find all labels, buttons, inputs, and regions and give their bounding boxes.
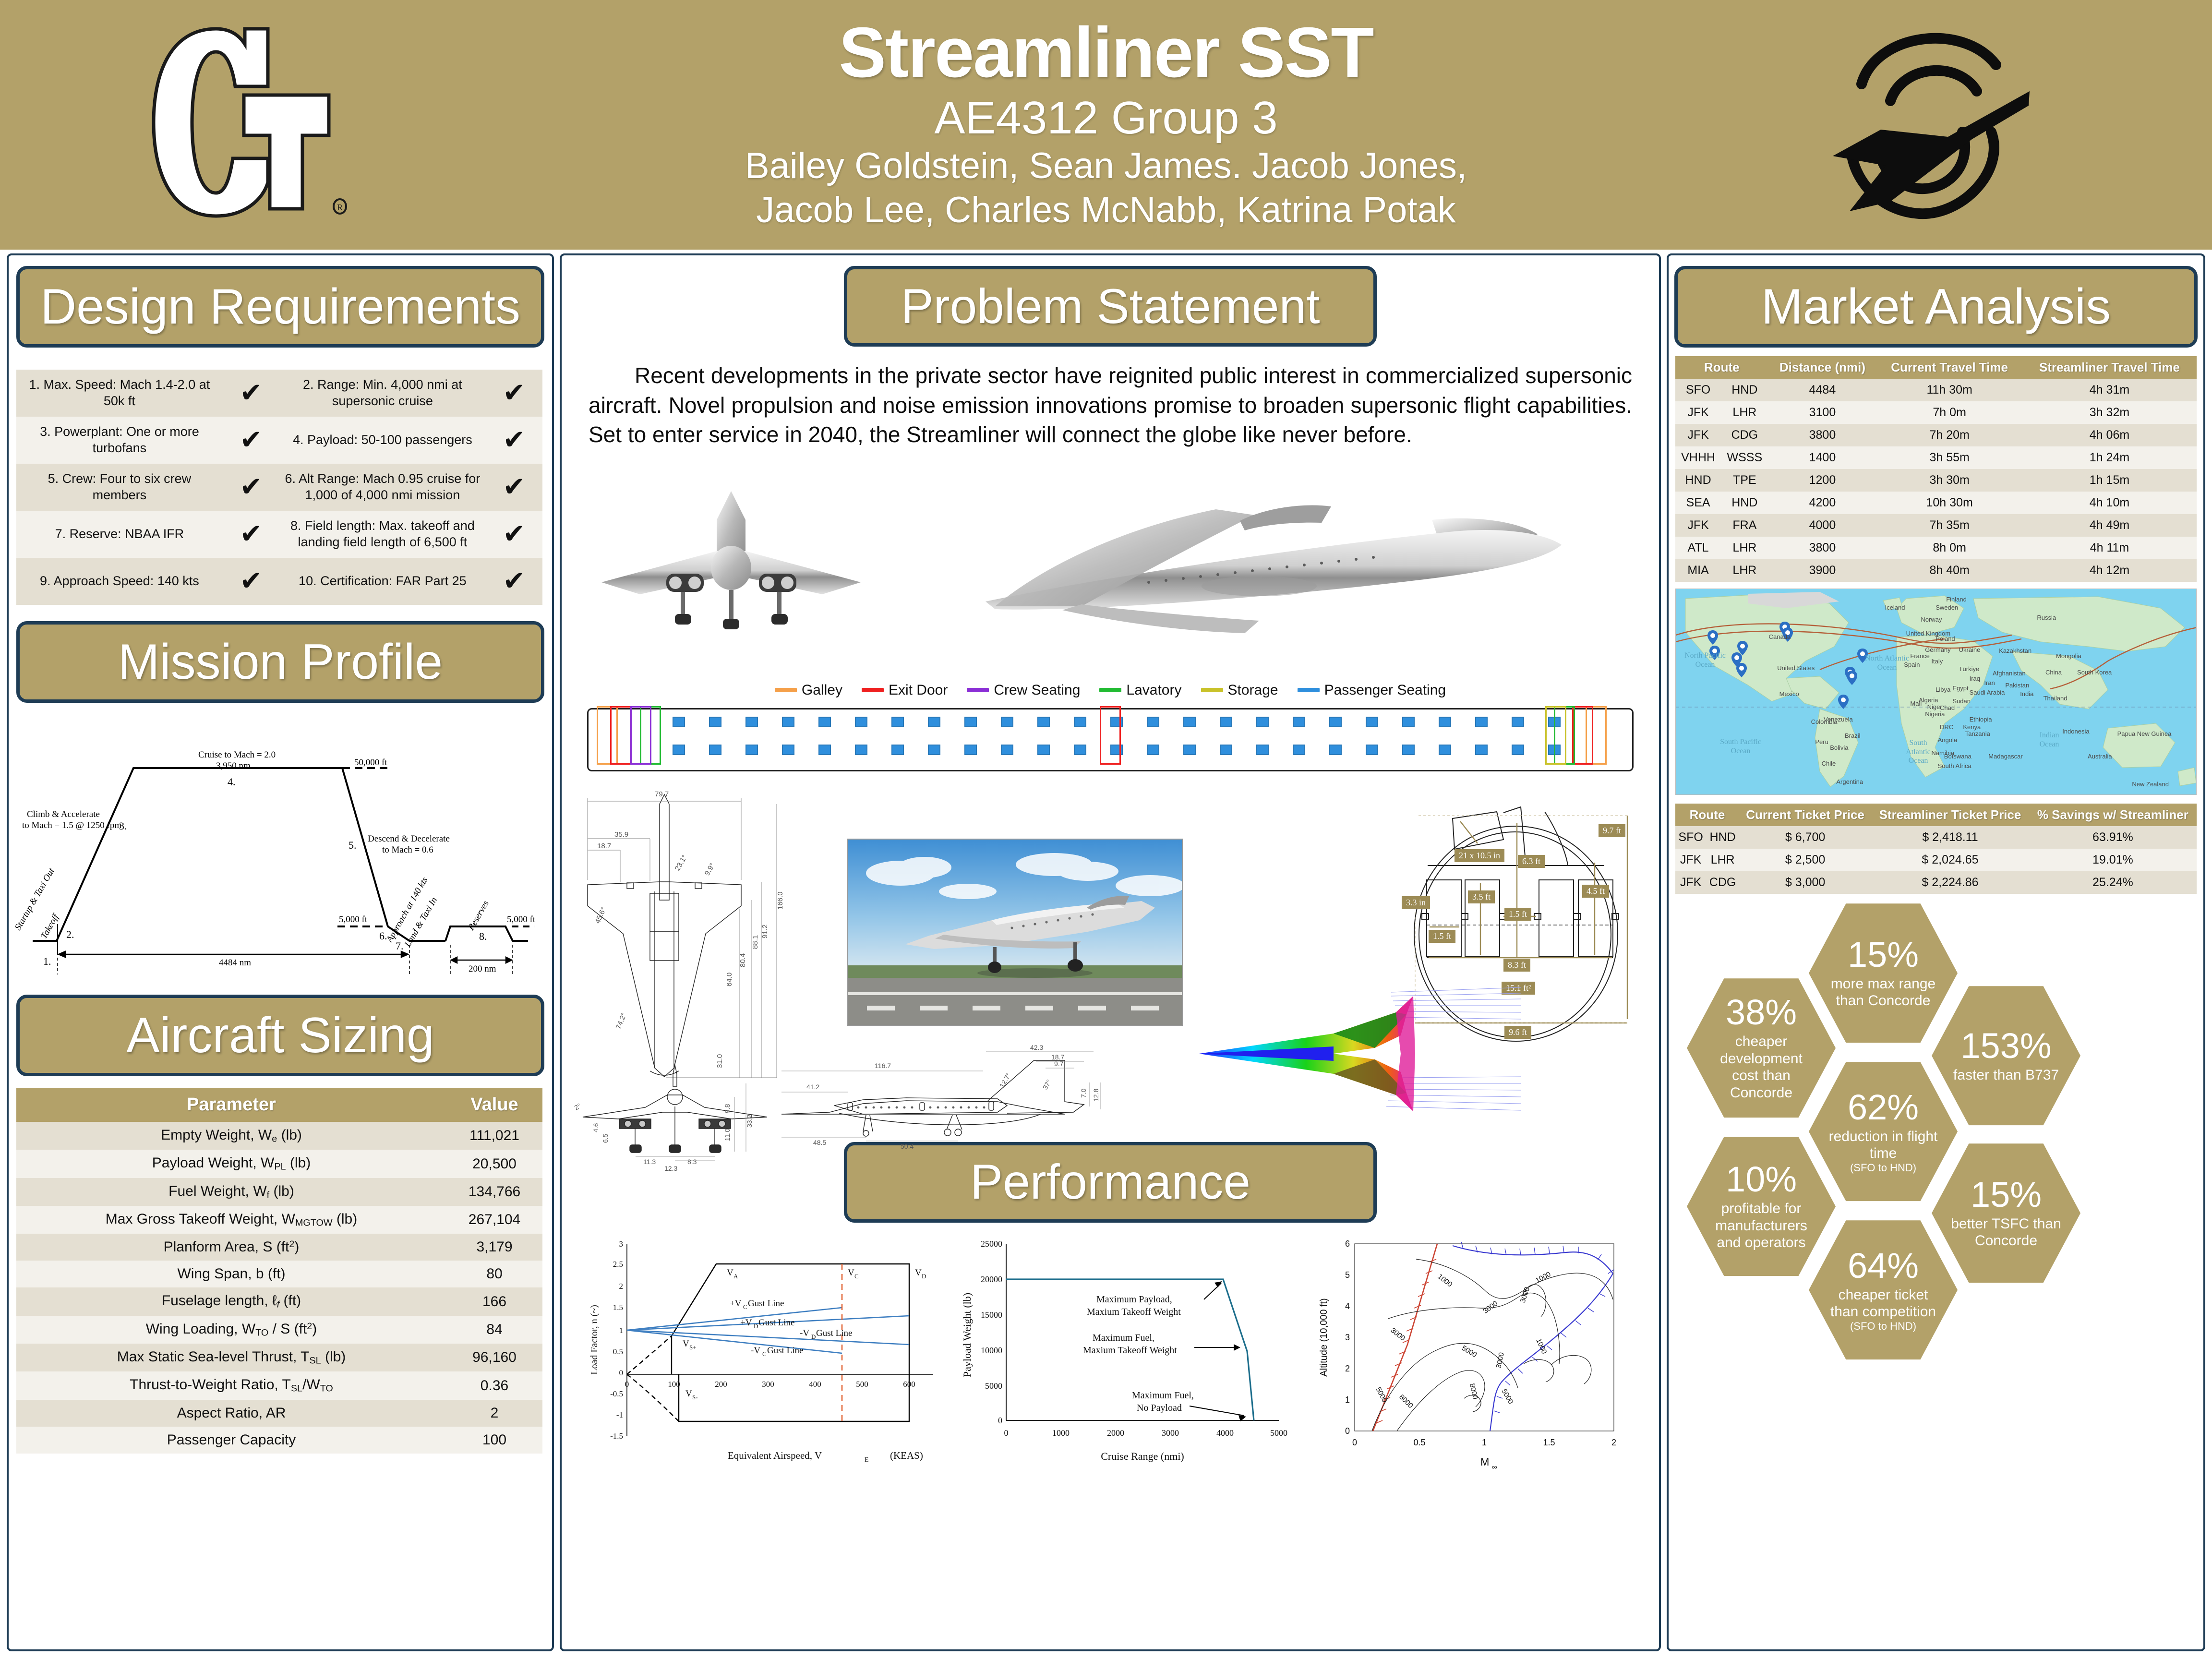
route-from-2: JFK <box>1675 424 1721 446</box>
svg-text:5: 5 <box>1345 1270 1350 1280</box>
section-header-aircraft-sizing: Aircraft Sizing <box>16 995 544 1076</box>
map-country-label: Egypt <box>1952 685 1968 692</box>
map-country-label: France <box>1910 652 1929 660</box>
map-country-label: Russia <box>2037 614 2056 621</box>
svg-text:Maxium Takeoff Weight: Maxium Takeoff Weight <box>1087 1307 1181 1317</box>
cabin-seat <box>1074 717 1086 727</box>
svg-text:0: 0 <box>1352 1438 1357 1447</box>
svg-text:7.0: 7.0 <box>1080 1088 1087 1098</box>
requirement-5-check: ✔ <box>223 464 279 511</box>
svg-text:D: D <box>922 1273 926 1280</box>
hex-development-cost-text: cheaper development cost than Concorde <box>1706 1033 1816 1101</box>
table-row: Payload Weight, WPL (lb)20,500 <box>16 1150 542 1178</box>
svg-text:+V: +V <box>740 1318 752 1328</box>
svg-text:23.1°: 23.1° <box>673 854 689 872</box>
cabin-seat <box>1001 745 1013 755</box>
xs-tag-aisle: 1.5 ft <box>1504 908 1531 921</box>
chart-v-n-diagram: VA VC VD VS+ VS- +VCGust Line +VDGust Li… <box>583 1229 948 1479</box>
svg-text:6.5: 6.5 <box>601 1133 609 1143</box>
price-current-1: $ 2,500 <box>1739 849 1871 871</box>
title-block: Streamliner SST AE4312 Group 3 Bailey Go… <box>530 17 1682 233</box>
requirement-1: 1. Max. Speed: Mach 1.4-2.0 at 50k ft <box>16 370 223 417</box>
svg-text:S+: S+ <box>689 1344 697 1351</box>
map-country-label: Mali <box>1910 700 1922 707</box>
cabin-seat <box>782 717 794 727</box>
cabin-seat <box>1256 745 1269 755</box>
sizing-param-1: Payload Weight, WPL (lb) <box>16 1150 446 1178</box>
table-row: Max Static Sea-level Thrust, TSL (lb)96,… <box>16 1344 542 1371</box>
svg-text:600: 600 <box>903 1380 915 1389</box>
payload-range-svg: Maximum Payload, Maxium Takeoff Weight M… <box>954 1229 1305 1479</box>
route-distance-5: 4200 <box>1768 492 1877 514</box>
svg-text:Load Factor, n (~): Load Factor, n (~) <box>589 1305 600 1375</box>
map-country-label: Pakistan <box>2005 682 2029 689</box>
mission-profile-svg <box>18 715 542 984</box>
route-to-4: TPE <box>1721 469 1768 492</box>
svg-text:(KEAS): (KEAS) <box>890 1450 923 1461</box>
table-row: Thrust-to-Weight Ratio, TSL/WTO0.36 <box>16 1371 542 1399</box>
render-three-quarter-view <box>986 505 1562 633</box>
cabin-seat <box>1074 745 1086 755</box>
svg-text:79.7: 79.7 <box>655 790 669 798</box>
svg-text:41.2: 41.2 <box>806 1083 819 1091</box>
svg-text:0.5: 0.5 <box>613 1347 623 1356</box>
sizing-value-6: 166 <box>446 1287 542 1315</box>
design-requirements-table: 1. Max. Speed: Mach 1.4-2.0 at 50k ft ✔ … <box>16 370 542 605</box>
table-row: SFOHND$ 6,700$ 2,418.1163.91% <box>1675 826 2197 849</box>
route-distance-8: 3900 <box>1768 559 1877 582</box>
route-streamliner-time-4: 1h 15m <box>2022 469 2197 492</box>
map-country-label: Colombia <box>1811 718 1838 725</box>
routes-table-body: SFOHND448411h 30m4h 31mJFKLHR31007h 0m3h… <box>1675 379 2197 582</box>
aircraft-renders <box>573 462 1648 673</box>
cabin-seat <box>1475 717 1488 727</box>
hex-cheaper-ticket-number: 64% <box>1848 1248 1919 1284</box>
table-row: SFOHND448411h 30m4h 31m <box>1675 379 2197 401</box>
svg-text:Gust Line: Gust Line <box>767 1346 803 1356</box>
svg-text:45.6°: 45.6° <box>593 906 608 925</box>
cabin-zone-exit-door <box>610 706 631 765</box>
sizing-param-6: Fuselage length, ℓf (ft) <box>16 1287 446 1315</box>
aircraft-sizing-table: Parameter Value Empty Weight, We (lb)111… <box>16 1088 542 1454</box>
three-view-side-svg: 116.7 41.2 48.5 50.4 42.3 18.7 9.7 12.7°… <box>767 1042 1132 1186</box>
svg-text:48.5: 48.5 <box>813 1139 826 1146</box>
georgia-tech-logo: R <box>144 14 413 230</box>
map-country-label: Mongolia <box>2056 652 2081 660</box>
map-country-label: Ethiopia <box>1970 716 1992 723</box>
hex-development-cost: 38% cheaper development cost than Concor… <box>1687 975 1836 1120</box>
left-column: Design Requirements 1. Max. Speed: Mach … <box>7 253 554 1651</box>
cabin-layout-legend: GalleyExit DoorCrew SeatingLavatoryStora… <box>562 682 1659 698</box>
map-country-label: Indonesia <box>2062 728 2089 735</box>
xs-tag-bin: 21 x 10.5 in <box>1455 849 1504 862</box>
svg-text:42.3: 42.3 <box>1030 1044 1043 1051</box>
cabin-seat <box>1147 717 1159 727</box>
svg-text:1.5: 1.5 <box>1543 1438 1555 1447</box>
svg-text:E: E <box>865 1456 869 1464</box>
center-column: Problem Statement Recent developments in… <box>560 253 1661 1651</box>
ocean-label-north-pacific: North Pacific Ocean <box>1683 651 1727 669</box>
cabin-seat <box>709 745 721 755</box>
sizing-param-3: Max Gross Takeoff Weight, WMGTOW (lb) <box>16 1206 446 1234</box>
map-country-label: Brazil <box>1845 732 1861 739</box>
route-from-0: SFO <box>1675 379 1721 401</box>
map-country-label: Poland <box>1935 635 1955 642</box>
svg-text:25000: 25000 <box>981 1239 1002 1249</box>
svg-text:R: R <box>337 203 343 212</box>
cabin-seat <box>1439 717 1451 727</box>
hex-tsfc-text: better TSFC than Concorde <box>1951 1215 2061 1250</box>
sizing-value-9: 0.36 <box>446 1371 542 1399</box>
requirement-2: 2. Range: Min. 4,000 nmi at supersonic c… <box>279 370 486 417</box>
hex-flight-time-number: 62% <box>1848 1090 1919 1125</box>
requirement-6-check: ✔ <box>486 464 542 511</box>
mp-number-2: 2. <box>66 928 74 941</box>
svg-text:500: 500 <box>856 1380 868 1389</box>
xs-tag-seat-width: 1.5 ft <box>1429 930 1455 943</box>
legend-label: Crew Seating <box>994 682 1080 698</box>
table-row: JFKCDG$ 3,000$ 2,224.8625.24% <box>1675 871 2197 894</box>
cabin-seat <box>855 717 867 727</box>
requirement-7-check: ✔ <box>223 511 279 558</box>
mp-label-cruise-altitude: 50,000 ft <box>354 757 387 768</box>
sizing-param-8: Max Static Sea-level Thrust, TSL (lb) <box>16 1344 446 1371</box>
legend-swatch-icon <box>1099 688 1121 692</box>
svg-text:-1.5: -1.5 <box>610 1431 623 1441</box>
cfd-pressure-visualization <box>1190 982 1526 1126</box>
svg-text:200: 200 <box>715 1380 727 1389</box>
ticket-price-table-body: SFOHND$ 6,700$ 2,418.1163.91%JFKLHR$ 2,5… <box>1675 826 2197 894</box>
hex-range-text: more max range than Concorde <box>1828 975 1938 1010</box>
route-distance-7: 3800 <box>1768 537 1877 559</box>
cabin-seat <box>1256 717 1269 727</box>
authors-line-2: Jacob Lee, Charles McNabb, Katrina Potak <box>530 188 1682 233</box>
map-country-label: Kazakhstan <box>1999 647 2032 654</box>
route-from-7: ATL <box>1675 537 1721 559</box>
hex-cheaper-ticket: 64% cheaper ticket than competition (SFO… <box>1809 1217 1958 1362</box>
requirement-8: 8. Field length: Max. takeoff and landin… <box>279 511 486 558</box>
svg-text:2: 2 <box>619 1282 624 1291</box>
chart-flight-envelope: 1000 1000 1000 3000 3000 3000 3000 5000 … <box>1311 1229 1638 1479</box>
cabin-seat <box>964 717 977 727</box>
poster-header: R Streamliner SST AE4312 Group 3 Bailey … <box>0 0 2212 250</box>
cabin-seat <box>1475 745 1488 755</box>
route-from-6: JFK <box>1675 514 1721 537</box>
svg-text:35.9: 35.9 <box>614 830 628 839</box>
svg-text:116.7: 116.7 <box>875 1062 891 1070</box>
cabin-seat <box>1037 745 1050 755</box>
svg-text:10000: 10000 <box>981 1346 1002 1355</box>
price-to-2: CDG <box>1706 871 1739 894</box>
svg-text:V: V <box>915 1268 922 1278</box>
svg-text:9.8: 9.8 <box>723 1104 731 1113</box>
legend-swatch-icon <box>1298 688 1320 692</box>
hex-flight-time: 62% reduction in flight time (SFO to HND… <box>1809 1059 1958 1204</box>
col-header-current-time: Current Travel Time <box>1876 356 2022 379</box>
svg-text:-V: -V <box>751 1346 760 1356</box>
render-front-view <box>601 491 861 629</box>
hex-profitable: 10% profitable for manufacturers and ope… <box>1687 1134 1836 1279</box>
route-streamliner-time-0: 4h 31m <box>2022 379 2197 401</box>
map-country-label: Australia <box>2088 753 2112 760</box>
svg-text:Equivalent Airspeed, V: Equivalent Airspeed, V <box>728 1450 822 1461</box>
svg-text:12.3: 12.3 <box>664 1165 677 1172</box>
cabin-seat <box>1293 717 1305 727</box>
svg-text:C: C <box>743 1303 747 1310</box>
svg-text:18.7: 18.7 <box>597 842 611 850</box>
requirement-6: 6. Alt Range: Mach 0.95 cruise for 1,000… <box>279 464 486 511</box>
col-header-distance: Distance (nmi) <box>1768 356 1877 379</box>
cabin-seat <box>673 717 685 727</box>
svg-text:166.0: 166.0 <box>776 891 784 910</box>
route-current-time-0: 11h 30m <box>1876 379 2022 401</box>
map-country-label: Botswana <box>1944 753 1972 760</box>
cabin-seat <box>928 717 940 727</box>
svg-text:4.6: 4.6 <box>592 1123 600 1132</box>
table-row: 9. Approach Speed: 140 kts ✔ 10. Certifi… <box>16 558 542 605</box>
table-header-row: Parameter Value <box>16 1088 542 1122</box>
mp-label-cruise: Cruise to Mach = 2.0 <box>198 750 276 760</box>
mp-label-descend-2: to Mach = 0.6 <box>382 845 433 855</box>
legend-swatch-icon <box>862 688 884 692</box>
poster-root: R Streamliner SST AE4312 Group 3 Bailey … <box>0 0 2212 1659</box>
cabin-seat <box>1329 745 1342 755</box>
hex-cheaper-ticket-text: cheaper ticket than competition <box>1828 1286 1938 1321</box>
mp-number-1: 1. <box>43 955 51 968</box>
cabin-seat <box>709 717 721 727</box>
legend-item-crew-seating: Crew Seating <box>967 682 1080 698</box>
table-row: JFKLHR$ 2,500$ 2,024.6519.01% <box>1675 849 2197 871</box>
streamliner-jet-logo <box>1804 12 2102 233</box>
sizing-value-11: 100 <box>446 1427 542 1454</box>
map-country-label: Papua New Guinea <box>2117 730 2172 737</box>
mp-label-reserve-range: 200 nm <box>469 964 496 974</box>
cabin-seat <box>1402 745 1415 755</box>
route-current-time-2: 7h 20m <box>1876 424 2022 446</box>
svg-text:74.2°: 74.2° <box>614 1011 628 1030</box>
map-country-label: Thailand <box>2044 695 2068 702</box>
table-row: Fuselage length, ℓf (ft)166 <box>16 1287 542 1315</box>
sizing-value-5: 80 <box>446 1261 542 1287</box>
photo-svg <box>848 840 1183 1026</box>
col-header-value: Value <box>446 1088 542 1122</box>
sizing-value-3: 267,104 <box>446 1206 542 1234</box>
hex-range-number: 15% <box>1848 937 1919 973</box>
svg-text:D: D <box>754 1322 758 1330</box>
requirement-2-check: ✔ <box>486 370 542 417</box>
mp-label-altitude-5000-b: 5,000 ft <box>507 914 535 925</box>
table-row: Passenger Capacity100 <box>16 1427 542 1454</box>
svg-text:0: 0 <box>998 1416 1002 1425</box>
section-header-design-requirements: Design Requirements <box>16 266 544 348</box>
route-to-6: FRA <box>1721 514 1768 537</box>
mp-number-7: 7. <box>396 940 404 952</box>
route-current-time-8: 8h 40m <box>1876 559 2022 582</box>
svg-text:A: A <box>733 1273 738 1280</box>
requirement-9: 9. Approach Speed: 140 kts <box>16 558 223 605</box>
cabin-seat <box>1439 745 1451 755</box>
legend-label: Lavatory <box>1126 682 1181 698</box>
svg-text:2°: 2° <box>573 1102 582 1112</box>
requirement-7: 7. Reserve: NBAA IFR <box>16 511 223 558</box>
svg-text:6: 6 <box>1345 1239 1350 1249</box>
sizing-param-0: Empty Weight, We (lb) <box>16 1122 446 1150</box>
svg-text:3000: 3000 <box>1162 1428 1179 1438</box>
svg-text:Altitude (10,000 ft): Altitude (10,000 ft) <box>1319 1298 1329 1376</box>
cabin-seat <box>1512 745 1524 755</box>
svg-text:-V: -V <box>800 1328 809 1338</box>
svg-text:-1: -1 <box>616 1410 623 1419</box>
map-country-label: Spain <box>1904 661 1920 668</box>
map-country-label: Italy <box>1931 658 1943 665</box>
svg-text:0.5: 0.5 <box>1413 1438 1425 1447</box>
map-country-label: Iceland <box>1885 604 1905 611</box>
legend-item-galley: Galley <box>775 682 842 698</box>
sizing-value-2: 134,766 <box>446 1178 542 1206</box>
aircraft-runway-photo <box>847 839 1183 1026</box>
route-from-8: MIA <box>1675 559 1721 582</box>
sizing-param-4: Planform Area, S (ft2) <box>16 1234 446 1261</box>
svg-text:Gust Line: Gust Line <box>816 1328 852 1338</box>
route-streamliner-time-2: 4h 06m <box>2022 424 2197 446</box>
svg-text:C: C <box>762 1350 767 1358</box>
cabin-seat <box>1329 717 1342 727</box>
col-header-current-price: Current Ticket Price <box>1739 804 1871 826</box>
hex-development-cost-number: 38% <box>1726 995 1797 1030</box>
cabin-zone-exit-door <box>1100 706 1121 765</box>
sizing-param-9: Thrust-to-Weight Ratio, TSL/WTO <box>16 1371 446 1399</box>
price-to-1: LHR <box>1706 849 1739 871</box>
cabin-seat <box>1147 745 1159 755</box>
xs-tag-height: 9.7 ft <box>1599 824 1625 837</box>
svg-text:300: 300 <box>762 1380 774 1389</box>
svg-text:V: V <box>848 1268 854 1278</box>
svg-text:Maximum Fuel,: Maximum Fuel, <box>1132 1390 1194 1401</box>
route-streamliner-time-1: 3h 32m <box>2022 401 2197 424</box>
svg-text:+V: +V <box>730 1298 742 1309</box>
cabin-seat <box>891 717 904 727</box>
hex-profitable-number: 10% <box>1726 1162 1797 1197</box>
svg-text:1: 1 <box>1482 1438 1487 1447</box>
svg-text:5000: 5000 <box>985 1381 1002 1391</box>
cabin-seat <box>1220 745 1232 755</box>
cabin-seat <box>1183 717 1196 727</box>
svg-text:Maximum Payload,: Maximum Payload, <box>1096 1294 1172 1305</box>
svg-text:9.7: 9.7 <box>1054 1060 1064 1068</box>
requirement-10-check: ✔ <box>486 558 542 605</box>
table-row: Wing Loading, WTO / S (ft2)84 <box>16 1316 542 1344</box>
svg-text:V: V <box>683 1339 689 1349</box>
price-savings-2: 25.24% <box>2029 871 2197 894</box>
flight-envelope-svg: 1000 1000 1000 3000 3000 3000 3000 5000 … <box>1311 1229 1638 1479</box>
price-current-0: $ 6,700 <box>1739 826 1871 849</box>
svg-text:3: 3 <box>619 1239 624 1249</box>
legend-item-storage: Storage <box>1201 682 1278 698</box>
section-header-mission-profile: Mission Profile <box>16 621 544 703</box>
route-current-time-3: 3h 55m <box>1876 446 2022 469</box>
hex-tsfc-number: 15% <box>1971 1177 2042 1213</box>
table-row: Empty Weight, We (lb)111,021 <box>16 1122 542 1150</box>
legend-label: Galley <box>802 682 842 698</box>
svg-text:S-: S- <box>692 1394 698 1401</box>
hex-flight-time-sub: (SFO to HND) <box>1850 1162 1916 1174</box>
map-country-label: New Zealand <box>2132 781 2169 788</box>
map-country-label: China <box>2045 669 2062 676</box>
svg-text:∞: ∞ <box>1492 1463 1497 1471</box>
requirement-5: 5. Crew: Four to six crew members <box>16 464 223 511</box>
map-country-label: Chile <box>1822 760 1836 767</box>
course-subtitle: AE4312 Group 3 <box>530 92 1682 144</box>
requirement-8-check: ✔ <box>486 511 542 558</box>
price-from-0: SFO <box>1675 826 1706 849</box>
routes-table: Route Distance (nmi) Current Travel Time… <box>1675 356 2197 582</box>
svg-text:4000: 4000 <box>1216 1428 1234 1438</box>
cabin-zone-crew-seating <box>630 706 651 765</box>
route-from-3: VHHH <box>1675 446 1721 469</box>
svg-text:No Payload: No Payload <box>1137 1403 1182 1413</box>
sizing-value-0: 111,021 <box>446 1122 542 1150</box>
svg-text:D: D <box>811 1333 816 1340</box>
map-country-label: DRC <box>1940 723 1953 731</box>
route-distance-4: 1200 <box>1768 469 1877 492</box>
map-country-label: Canada <box>1769 633 1791 640</box>
performance-charts-row: VA VC VD VS+ VS- +VCGust Line +VDGust Li… <box>570 1229 1650 1479</box>
map-country-label: Iraq <box>1970 675 1980 682</box>
svg-text:12.7°: 12.7° <box>998 1071 1012 1089</box>
problem-statement-text: Recent developments in the private secto… <box>589 361 1632 450</box>
cabin-seat <box>818 745 831 755</box>
sizing-value-1: 20,500 <box>446 1150 542 1178</box>
price-from-2: JFK <box>1675 871 1706 894</box>
authors-line-1: Bailey Goldstein, Sean James. Jacob Jone… <box>530 144 1682 189</box>
table-row: Wing Span, b (ft)80 <box>16 1261 542 1287</box>
mp-label-descend-1: Descend & Decelerate <box>368 834 450 844</box>
cabin-seat <box>1220 717 1232 727</box>
route-streamliner-time-3: 1h 24m <box>2022 446 2197 469</box>
legend-label: Exit Door <box>889 682 948 698</box>
route-to-2: CDG <box>1721 424 1768 446</box>
sizing-param-2: Fuel Weight, Wf (lb) <box>16 1178 446 1206</box>
map-country-label: Afghanistan <box>1993 670 2026 677</box>
legend-label: Passenger Seating <box>1324 682 1446 698</box>
map-country-label: Libya <box>1935 686 1950 693</box>
legend-label: Storage <box>1228 682 1278 698</box>
price-savings-1: 19.01% <box>2029 849 2197 871</box>
svg-text:400: 400 <box>809 1380 821 1389</box>
table-row: ATLLHR38008h 0m4h 11m <box>1675 537 2197 559</box>
sizing-value-4: 3,179 <box>446 1234 542 1261</box>
cabin-seat <box>1512 717 1524 727</box>
cabin-seat <box>964 745 977 755</box>
page-title: Streamliner SST <box>530 17 1682 89</box>
mp-number-3: 3. <box>119 820 127 832</box>
hex-faster-b737-number: 153% <box>1960 1028 2051 1064</box>
svg-text:0: 0 <box>625 1380 629 1389</box>
table-row: VHHHWSSS14003h 55m1h 24m <box>1675 446 2197 469</box>
svg-text:1: 1 <box>1345 1395 1350 1405</box>
map-country-label: Argentina <box>1836 778 1863 785</box>
svg-text:2000: 2000 <box>1107 1428 1124 1438</box>
map-country-label: Finland <box>1946 596 1967 603</box>
table-row: JFKCDG38007h 20m4h 06m <box>1675 424 2197 446</box>
svg-text:Maxium Takeoff Weight: Maxium Takeoff Weight <box>1083 1345 1177 1356</box>
statistics-hexagons: 15% more max range than Concorde 38% che… <box>1675 901 2197 1385</box>
svg-text:Gust Line: Gust Line <box>748 1298 784 1309</box>
table-row: JFKLHR31007h 0m3h 32m <box>1675 401 2197 424</box>
map-country-label: Sweden <box>1935 604 1958 611</box>
cabin-seat <box>1001 717 1013 727</box>
svg-text:2: 2 <box>1611 1438 1616 1447</box>
